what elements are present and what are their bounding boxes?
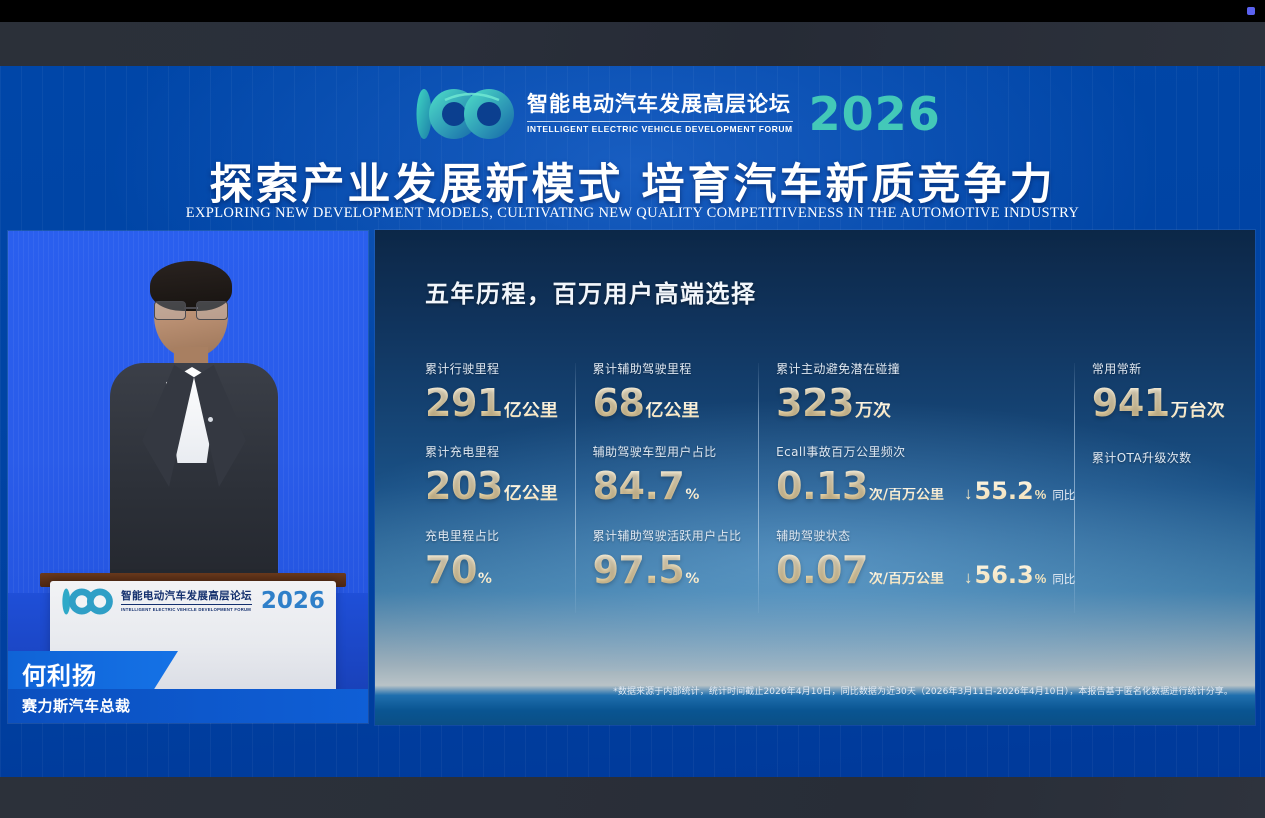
event-title-cn: 智能电动汽车发展高层论坛: [527, 93, 793, 116]
metric-item: 累计辅助驾驶里程 68亿公里: [593, 363, 742, 446]
banner-headline-en: EXPLORING NEW DEVELOPMENT MODELS, CULTIV…: [0, 205, 1265, 222]
metric-item: 累计辅助驾驶活跃用户占比 97.5%: [593, 530, 742, 613]
metric-item: 累计行驶里程 291亿公里: [425, 363, 558, 446]
event-logo: 智能电动汽车发展高层论坛 INTELLIGENT ELECTRIC VEHICL…: [415, 86, 941, 142]
metric-delta-tag: 同比: [1052, 487, 1075, 503]
metric-column-1: 累计行驶里程 291亿公里 累计充电里程 203亿公里 充电里程占比 70%: [425, 363, 558, 613]
metric-label: 常用常新: [1092, 363, 1235, 375]
podium-title-en: INTELLIGENT ELECTRIC VEHICLE DEVELOPMENT…: [121, 604, 252, 612]
metric-item: 常用常新 941万台次: [1092, 363, 1235, 452]
metric-item: 充电里程占比 70%: [425, 530, 558, 613]
lower-third-nameplate: 何利扬 赛力斯汽车总裁: [8, 651, 368, 723]
speaker-glasses: [152, 301, 230, 318]
metric-label: 充电里程占比: [425, 530, 558, 542]
speaker-video-panel[interactable]: 智能电动汽车发展高层论坛 INTELLIGENT ELECTRIC VEHICL…: [8, 231, 368, 723]
metric-delta-percent: %: [1035, 487, 1047, 502]
window-top-bar: [0, 0, 1265, 22]
metric-delta-value: 56.3: [975, 563, 1034, 587]
metric-column-3: 累计主动避免潜在碰撞 323万次 Ecall事故百万公里频次 0.13次/百万公…: [776, 363, 1057, 613]
metric-unit: 万台次: [1171, 402, 1225, 420]
metric-column-4: 常用常新 941万台次 累计OTA升级次数: [1092, 363, 1235, 613]
event-year: 2026: [809, 91, 941, 137]
column-divider: [575, 363, 576, 613]
banner-headline-cn: 探索产业发展新模式 培育汽车新质竞争力: [0, 150, 1265, 212]
metric-value: 68: [593, 384, 645, 422]
recording-dot-icon: [1247, 7, 1255, 15]
chrome-bottom-band: [0, 777, 1265, 818]
metric-label: 累计辅助驾驶活跃用户占比: [593, 530, 742, 542]
metric-value: 84.7: [593, 467, 685, 505]
metric-delta: ↓ 55.2 % 同比: [964, 479, 1075, 503]
metric-item: 累计充电里程 203亿公里: [425, 446, 558, 529]
metric-unit: %: [478, 572, 492, 586]
metric-value: 70: [425, 551, 477, 589]
metric-column-2: 累计辅助驾驶里程 68亿公里 辅助驾驶车型用户占比 84.7% 累计辅助驾驶活跃…: [593, 363, 742, 613]
chrome-top-band: [0, 22, 1265, 66]
arrow-down-icon: ↓: [964, 569, 973, 586]
metric-unit: 次/百万公里: [869, 488, 944, 502]
metric-label: 累计行驶里程: [425, 363, 558, 375]
ioo-monogram-icon: [415, 86, 517, 142]
arrow-down-icon: ↓: [964, 485, 973, 502]
metric-unit: %: [685, 488, 699, 502]
metric-value: 97.5: [593, 551, 685, 589]
metric-label: 辅助驾驶车型用户占比: [593, 446, 742, 458]
slide-footnote: *数据来源于内部统计，统计时间截止2026年4月10日，同比数据为近30天（20…: [375, 684, 1255, 697]
metric-item: 辅助驾驶状态 0.07次/百万公里 ↓ 56.3 % 同比: [776, 530, 1057, 613]
metric-item: Ecall事故百万公里频次 0.13次/百万公里 ↓ 55.2 % 同比: [776, 446, 1057, 529]
metric-label: Ecall事故百万公里频次: [776, 446, 1057, 458]
metric-item: 累计OTA升级次数: [1092, 452, 1235, 541]
column-divider: [1074, 363, 1075, 613]
podium-logo: 智能电动汽车发展高层论坛 INTELLIGENT ELECTRIC VEHICL…: [50, 587, 336, 616]
podium-title-cn: 智能电动汽车发展高层论坛: [121, 591, 252, 602]
speaker-name: 何利扬: [22, 656, 97, 691]
metric-unit: %: [685, 572, 699, 586]
metric-label: 累计辅助驾驶里程: [593, 363, 742, 375]
metric-label: 累计充电里程: [425, 446, 558, 458]
metric-unit: 亿公里: [504, 402, 558, 420]
metric-item: 辅助驾驶车型用户占比 84.7%: [593, 446, 742, 529]
event-title-en: INTELLIGENT ELECTRIC VEHICLE DEVELOPMENT…: [527, 121, 793, 134]
metric-delta: ↓ 56.3 % 同比: [964, 563, 1075, 587]
metrics-grid: 累计行驶里程 291亿公里 累计充电里程 203亿公里 充电里程占比 70% 累…: [425, 363, 1235, 613]
metric-value: 323: [776, 384, 854, 422]
speaker-lapel-mic-icon: [208, 417, 213, 422]
metric-unit: 万次: [855, 402, 891, 420]
speaker-figure: [104, 267, 284, 597]
slide-title: 五年历程，百万用户高端选择: [425, 274, 757, 309]
metric-value: 203: [425, 467, 503, 505]
metric-delta-percent: %: [1035, 571, 1047, 586]
metric-unit: 次/百万公里: [869, 572, 944, 586]
broadcast-stage: 智能电动汽车发展高层论坛 INTELLIGENT ELECTRIC VEHICL…: [0, 0, 1265, 818]
metric-delta-tag: 同比: [1052, 571, 1075, 587]
metric-unit: 亿公里: [504, 485, 558, 503]
metric-value: 291: [425, 384, 503, 422]
metric-unit: 亿公里: [645, 402, 699, 420]
metric-label: 累计OTA升级次数: [1092, 452, 1235, 464]
metric-item: 累计主动避免潜在碰撞 323万次: [776, 363, 1057, 446]
metric-value: 941: [1092, 384, 1170, 422]
podium-year: 2026: [261, 590, 325, 613]
metric-value: 0.07: [776, 551, 868, 589]
podium-ioo-monogram-icon: [61, 587, 115, 616]
metric-label: 辅助驾驶状态: [776, 530, 1057, 542]
metric-label: 累计主动避免潜在碰撞: [776, 363, 1057, 375]
metric-value: 0.13: [776, 467, 868, 505]
speaker-role: 赛力斯汽车总裁: [22, 695, 131, 716]
metric-delta-value: 55.2: [975, 479, 1034, 503]
column-divider: [758, 363, 759, 613]
